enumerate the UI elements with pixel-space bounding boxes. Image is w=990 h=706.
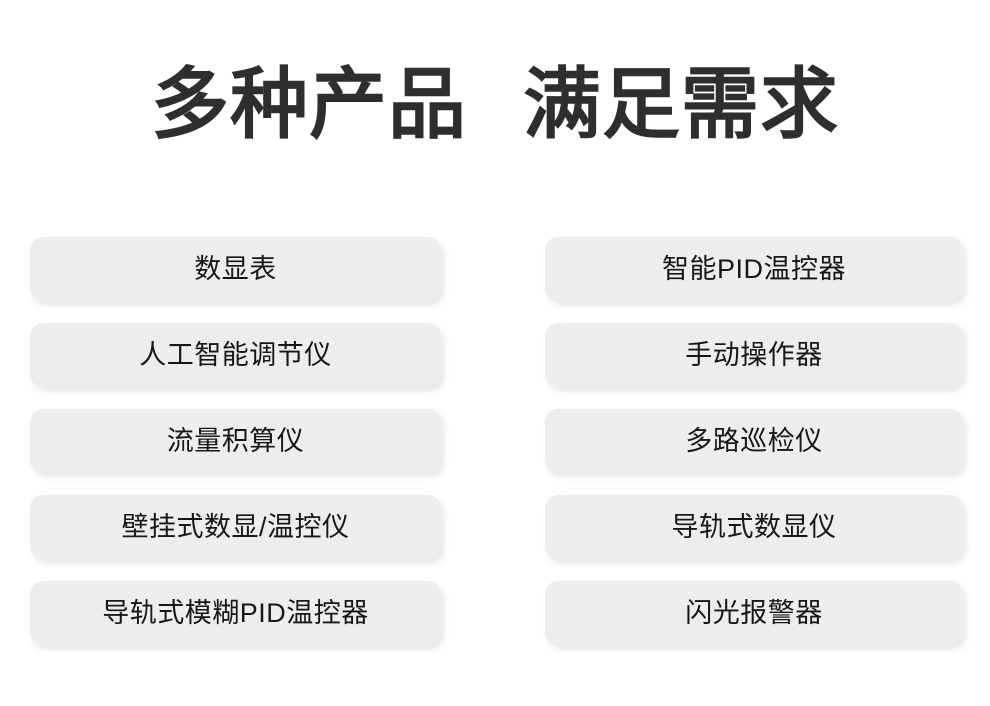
product-category-card[interactable]: 人工智能调节仪 [30,323,441,387]
product-category-card[interactable]: 导轨式模糊PID温控器 [30,581,441,645]
product-category-card[interactable]: 壁挂式数显/温控仪 [30,495,441,559]
product-category-card[interactable]: 流量积算仪 [30,409,441,473]
product-category-column-left: 数显表 人工智能调节仪 流量积算仪 壁挂式数显/温控仪 导轨式模糊PID温控器 [30,237,441,645]
heading-part-two: 满足需求 [523,60,839,148]
heading-text: 多种产品满足需求 [151,65,839,143]
product-category-card[interactable]: 多路巡检仪 [545,409,963,473]
product-category-label: 闪光报警器 [685,600,823,627]
product-category-card[interactable]: 导轨式数显仪 [545,495,963,559]
product-category-label: 数显表 [194,256,277,283]
product-category-label: 流量积算仪 [167,428,305,455]
product-category-label: 壁挂式数显/温控仪 [121,514,349,541]
product-category-label: 多路巡检仪 [685,428,823,455]
product-category-card[interactable]: 手动操作器 [545,323,963,387]
product-category-label: 智能PID温控器 [662,256,846,283]
product-category-card[interactable]: 智能PID温控器 [545,237,963,301]
product-category-card[interactable]: 闪光报警器 [545,581,963,645]
product-category-column-right: 智能PID温控器 手动操作器 多路巡检仪 导轨式数显仪 闪光报警器 [545,237,963,645]
product-category-card[interactable]: 数显表 [30,237,441,301]
page-heading: 多种产品满足需求 [0,44,990,164]
product-category-label: 手动操作器 [685,342,823,369]
product-category-label: 导轨式模糊PID温控器 [102,600,369,627]
product-category-grid: 数显表 人工智能调节仪 流量积算仪 壁挂式数显/温控仪 导轨式模糊PID温控器 … [30,237,963,645]
product-category-label: 导轨式数显仪 [672,514,837,541]
product-category-label: 人工智能调节仪 [139,342,332,369]
product-category-page: 多种产品满足需求 数显表 人工智能调节仪 流量积算仪 壁挂式数显/温控仪 导轨式… [0,0,990,706]
heading-part-one: 多种产品 [151,60,467,148]
